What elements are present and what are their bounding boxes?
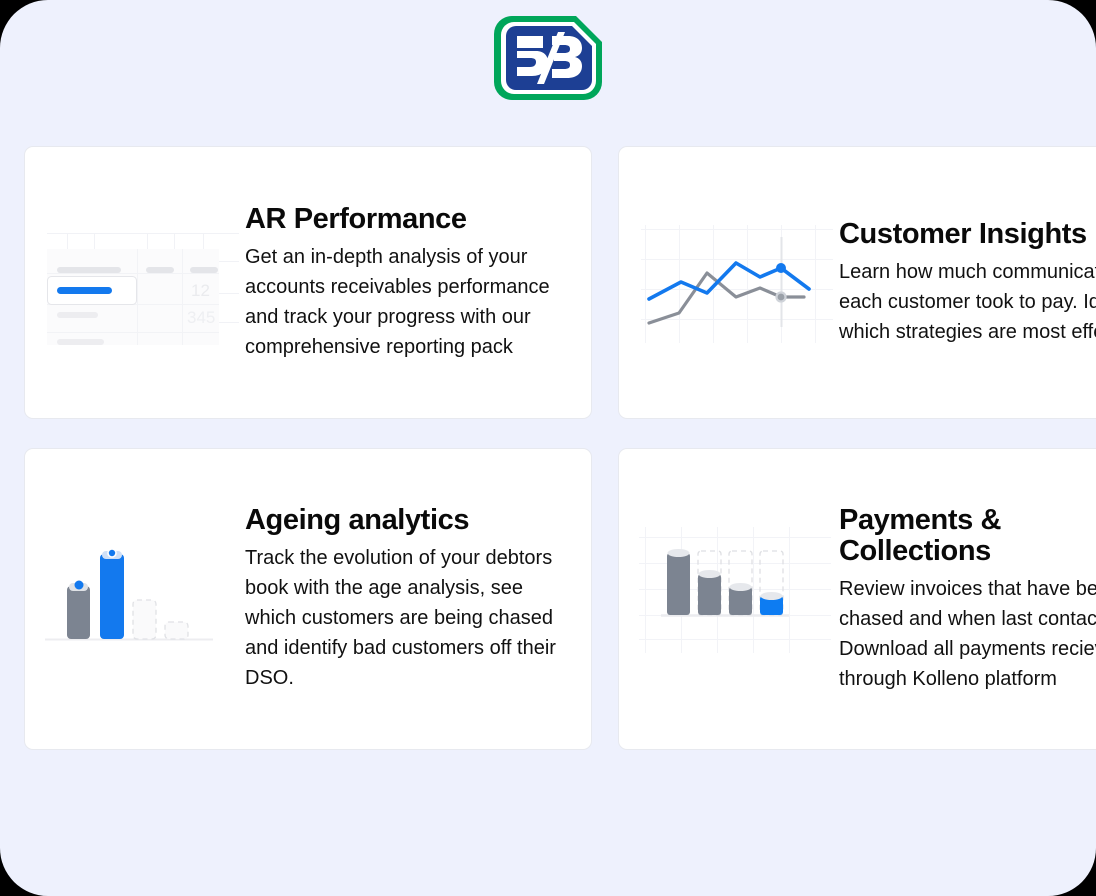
- feature-card-grid: 12 345 AR Performance Get an in-depth an…: [24, 146, 1096, 750]
- card-body-ar-performance: AR Performance Get an in-depth analysis …: [245, 204, 591, 362]
- table-cell-value-345: 345: [187, 308, 215, 327]
- bar-4-placeholder: [165, 622, 188, 639]
- card-description: Learn how much communication each custom…: [839, 257, 1096, 347]
- card-ageing-analytics[interactable]: Ageing analytics Track the evolution of …: [24, 448, 592, 750]
- bar-2-dot: [109, 550, 115, 556]
- bar-2: [698, 574, 721, 615]
- table-mock-icon: 12 345: [47, 233, 239, 345]
- brand-logo: [0, 8, 1096, 108]
- bar-3-placeholder: [133, 600, 156, 639]
- bar-3: [729, 587, 752, 615]
- bar-2-cap: [699, 570, 721, 578]
- descending-bar-chart-icon: [639, 527, 831, 653]
- bar-chart-icon: [45, 539, 213, 651]
- bar-1: [67, 586, 90, 639]
- card-title: AR Performance: [245, 204, 581, 235]
- fifth-third-bank-logo-icon: [486, 8, 610, 108]
- card-art-ar-performance: 12 345: [25, 147, 245, 418]
- card-description: Get an in-depth analysis of your account…: [245, 242, 575, 362]
- card-payments-collections[interactable]: Payments & Collections Review invoices t…: [618, 448, 1096, 750]
- bar-4-cap: [761, 592, 783, 600]
- card-customer-insights[interactable]: Customer Insights Learn how much communi…: [618, 146, 1096, 419]
- bar-2: [100, 554, 124, 639]
- bar-1: [667, 553, 690, 615]
- card-description: Track the evolution of your debtors book…: [245, 543, 575, 693]
- card-art-customer-insights: [619, 147, 839, 418]
- card-title: Customer Insights: [839, 219, 1096, 250]
- page-root: 12 345 AR Performance Get an in-depth an…: [0, 0, 1096, 896]
- card-art-payments-collections: [619, 449, 839, 749]
- bar-3-cap: [730, 583, 752, 591]
- bar-1-cap: [668, 549, 690, 557]
- line-chart-icon: [641, 225, 833, 343]
- card-art-ageing-analytics: [25, 449, 245, 749]
- marker-gray: [778, 294, 785, 301]
- table-cell-value-12: 12: [191, 281, 210, 300]
- card-title: Ageing analytics: [245, 505, 581, 536]
- card-description: Review invoices that have been chased an…: [839, 574, 1096, 694]
- card-body-payments-collections: Payments & Collections Review invoices t…: [839, 505, 1096, 694]
- card-ar-performance[interactable]: 12 345 AR Performance Get an in-depth an…: [24, 146, 592, 419]
- card-body-customer-insights: Customer Insights Learn how much communi…: [839, 219, 1096, 347]
- card-body-ageing-analytics: Ageing analytics Track the evolution of …: [245, 505, 591, 693]
- bar-1-dot: [75, 581, 84, 590]
- marker-blue: [776, 263, 786, 273]
- card-title: Payments & Collections: [839, 505, 1096, 567]
